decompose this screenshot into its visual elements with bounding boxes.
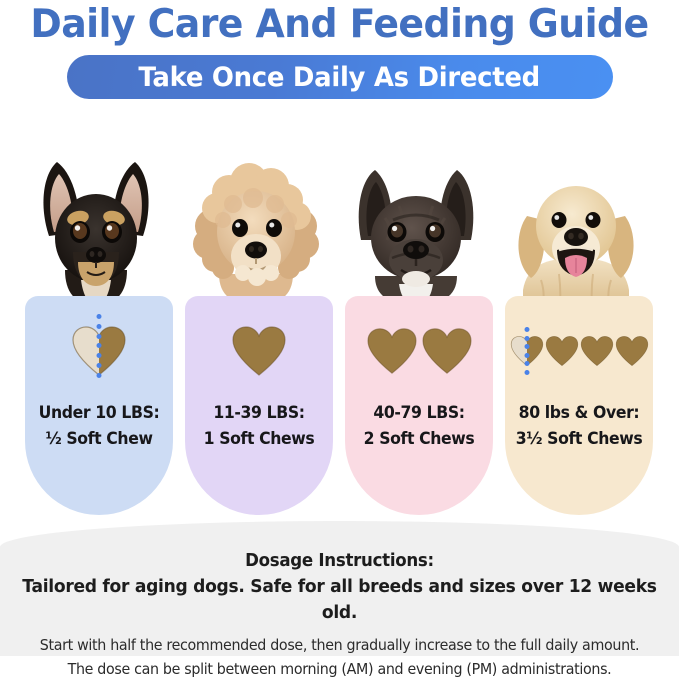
- chew-full: [366, 327, 418, 375]
- chew-half: [71, 325, 127, 377]
- directions-banner: Take Once Daily As Directed: [67, 55, 613, 99]
- weight-label: 80 lbs & Over:: [509, 400, 650, 426]
- dosage-card: Under 10 LBS: ½ Soft Chew: [16, 140, 176, 515]
- dose-text: 40-79 LBS: 2 Soft Chews: [349, 400, 490, 452]
- dog-photo-chihuahua: [16, 140, 176, 305]
- dosage-card: 80 lbs & Over: 3½ Soft Chews: [496, 140, 656, 515]
- dose-panel: 80 lbs & Over: 3½ Soft Chews: [505, 296, 653, 515]
- dose-label: ½ Soft Chew: [29, 426, 170, 452]
- chew-group: [185, 320, 333, 382]
- footer-note-line2: The dose can be split between morning (A…: [17, 657, 662, 681]
- chew-group: [505, 320, 653, 382]
- dose-panel: 11-39 LBS: 1 Soft Chews: [185, 296, 333, 515]
- footer-note-line1: Start with half the recommended dose, th…: [17, 633, 662, 657]
- dose-text: Under 10 LBS: ½ Soft Chew: [29, 400, 170, 452]
- dose-panel: Under 10 LBS: ½ Soft Chew: [25, 296, 173, 515]
- chew-full: [545, 335, 579, 367]
- dog-photo-golden-retriever: [496, 140, 656, 305]
- banner-label: Take Once Daily As Directed: [139, 62, 541, 93]
- chew-full: [580, 335, 614, 367]
- chew-group: [25, 320, 173, 382]
- dog-photo-poodle: [176, 140, 336, 305]
- chew-full: [615, 335, 649, 367]
- dose-label: 2 Soft Chews: [349, 426, 490, 452]
- chew-group: [345, 320, 493, 382]
- footer-heading: Dosage Instructions:: [17, 549, 662, 573]
- header: Daily Care And Feeding Guide Take Once D…: [0, 0, 679, 99]
- chew-full: [231, 325, 287, 377]
- chew-half: [510, 335, 544, 367]
- dosage-card: 11-39 LBS: 1 Soft Chews: [176, 140, 336, 515]
- dose-label: 3½ Soft Chews: [509, 426, 650, 452]
- split-dotted-line: [524, 327, 529, 375]
- dosage-card-row: Under 10 LBS: ½ Soft Chew: [0, 140, 679, 515]
- banner-wrap: Take Once Daily As Directed: [0, 55, 679, 99]
- weight-label: 11-39 LBS:: [189, 400, 330, 426]
- page-title: Daily Care And Feeding Guide: [10, 2, 669, 48]
- dose-text: 11-39 LBS: 1 Soft Chews: [189, 400, 330, 452]
- weight-label: Under 10 LBS:: [29, 400, 170, 426]
- dose-label: 1 Soft Chews: [189, 426, 330, 452]
- dose-text: 80 lbs & Over: 3½ Soft Chews: [509, 400, 650, 452]
- weight-label: 40-79 LBS:: [349, 400, 490, 426]
- dosage-instructions-footer: Dosage Instructions: Tailored for aging …: [0, 521, 679, 656]
- footer-subheading: Tailored for aging dogs. Safe for all br…: [17, 574, 662, 626]
- dog-photo-french-bulldog: [336, 140, 496, 305]
- dosage-card: 40-79 LBS: 2 Soft Chews: [336, 140, 496, 515]
- dose-panel: 40-79 LBS: 2 Soft Chews: [345, 296, 493, 515]
- chew-full: [421, 327, 473, 375]
- split-dotted-line: [97, 314, 102, 378]
